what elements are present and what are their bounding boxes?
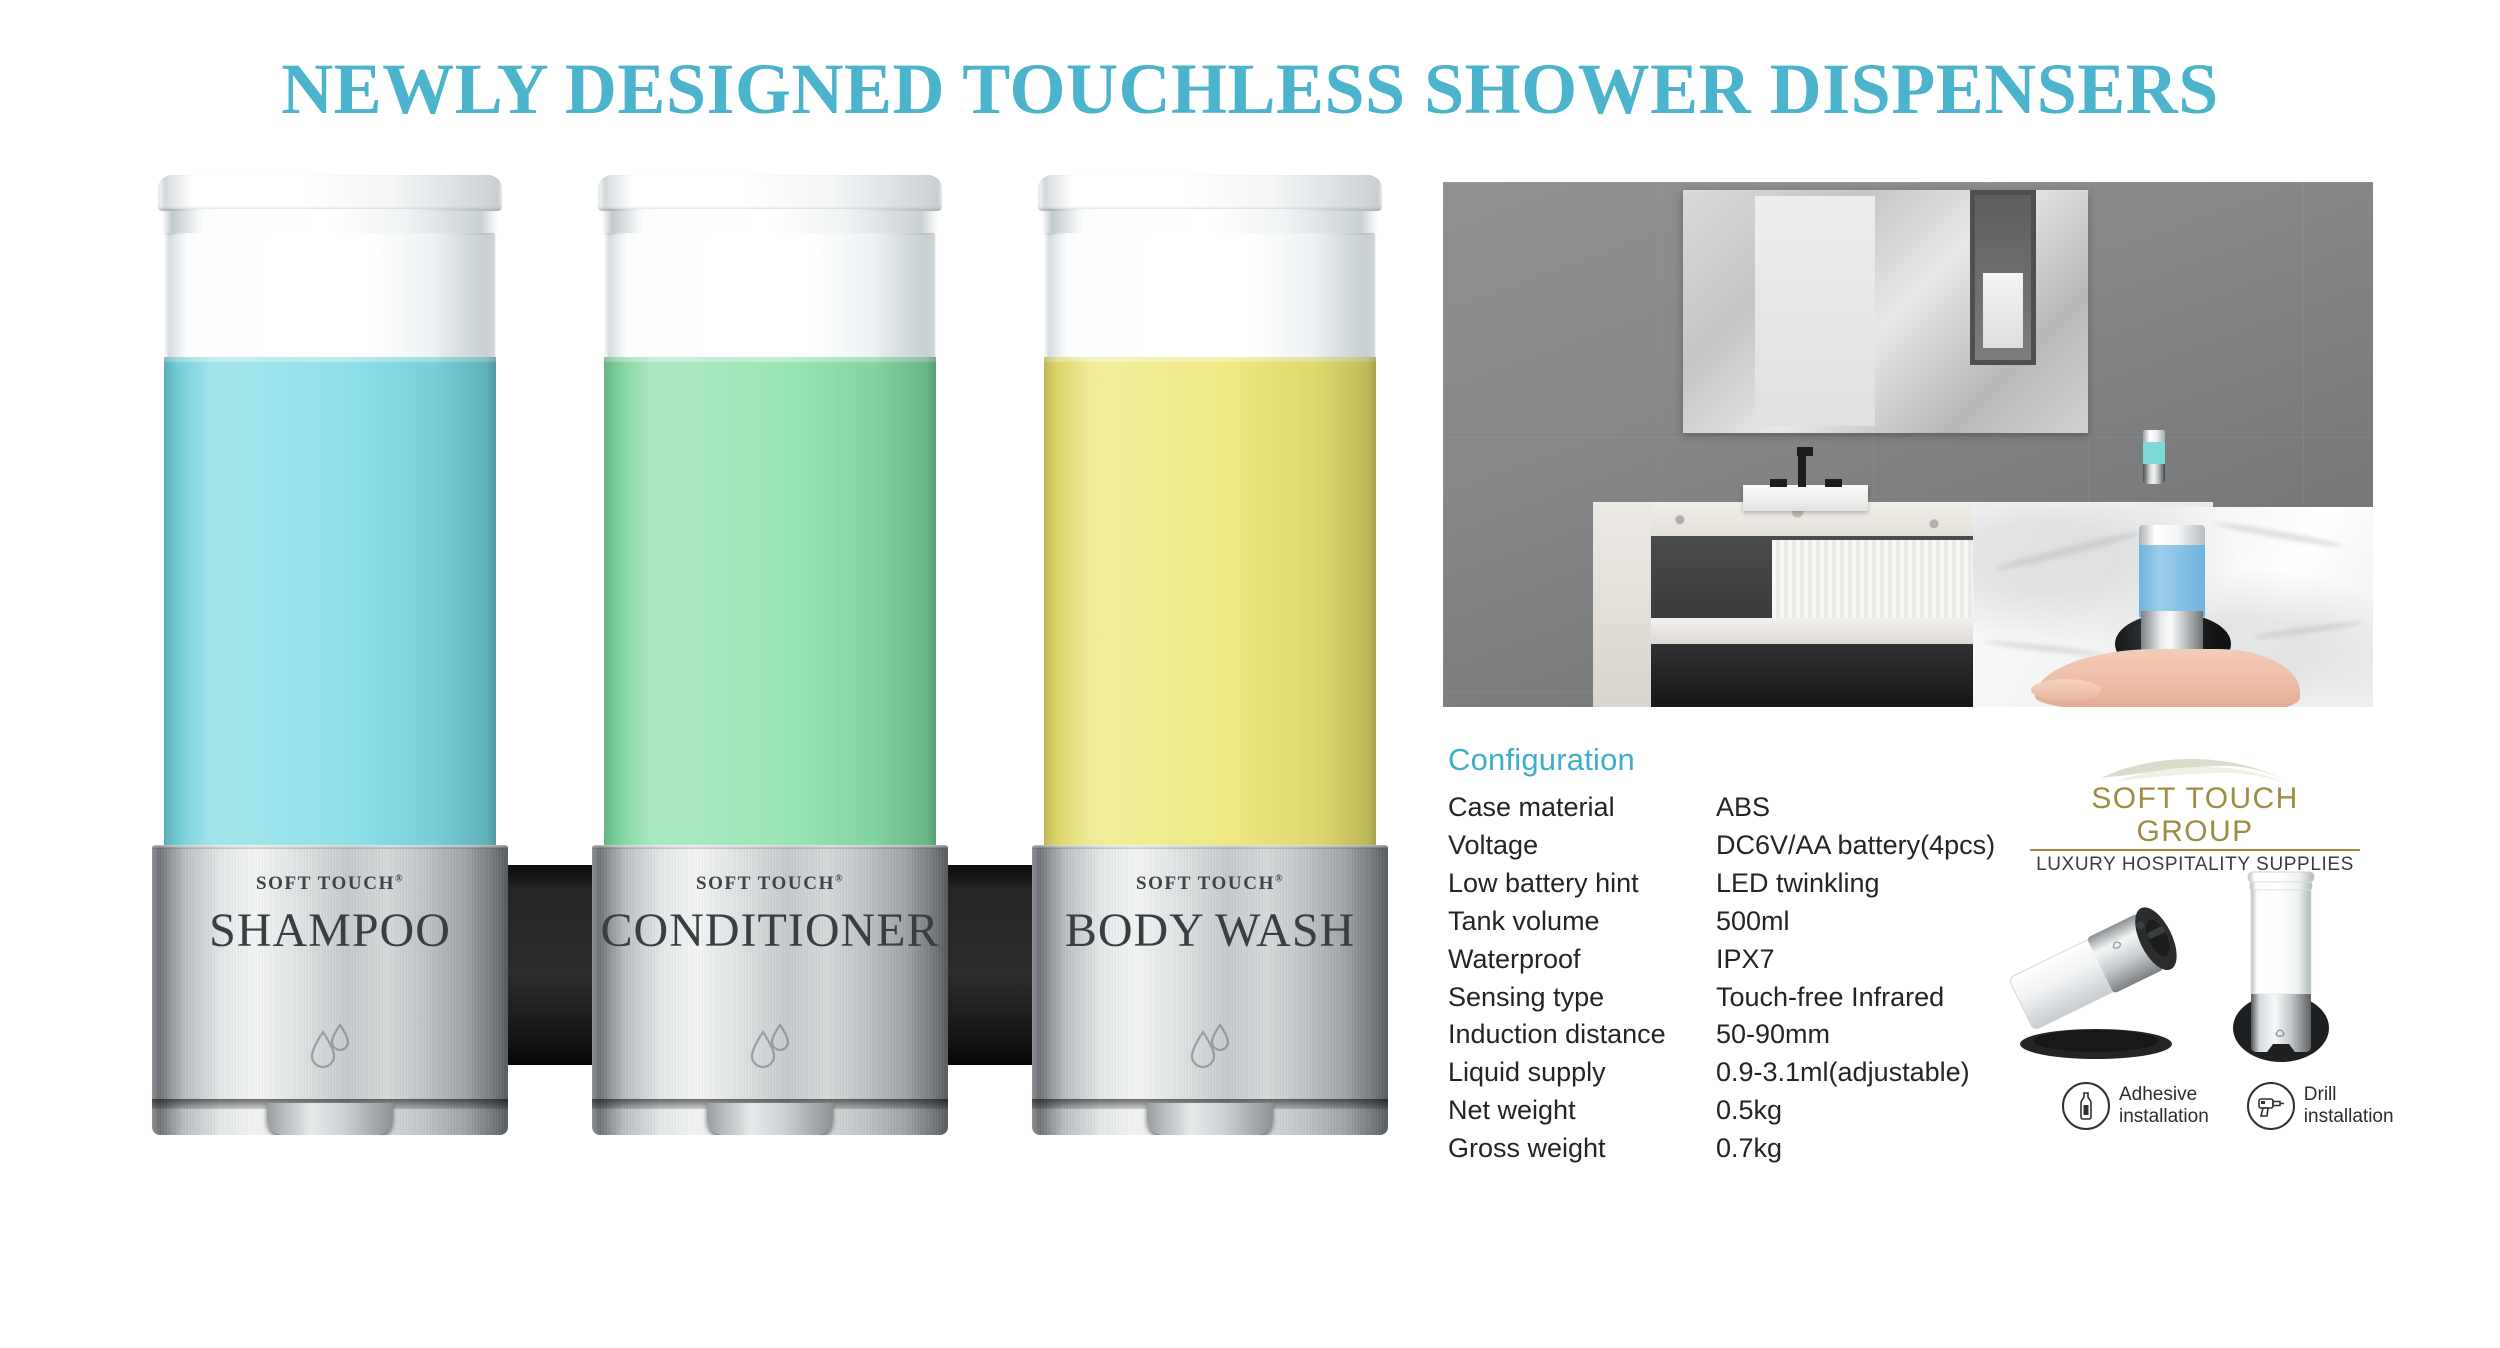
spec-value: IPX7 xyxy=(1716,942,1995,980)
install-method-label: Drill installation xyxy=(2304,1084,2394,1129)
mirror-reflection-door xyxy=(1755,196,1875,426)
bathroom-mirror xyxy=(1683,190,2088,433)
dispenser-tank xyxy=(2143,430,2165,464)
company-logo: SOFT TOUCH GROUP LUXURY HOSPITALITY SUPP… xyxy=(2030,756,2360,876)
spec-key: Low battery hint xyxy=(1448,866,1716,904)
metal-top-edge xyxy=(592,845,948,849)
product-label: SHAMPOO xyxy=(152,903,508,958)
faucet-spout xyxy=(1798,453,1806,487)
vanity-leg-left xyxy=(1593,502,1651,707)
product-lineup: SOFT TOUCH® SHAMPOO SOFT xyxy=(150,175,1450,1205)
table-row: Induction distance50-90mm xyxy=(1448,1017,1995,1055)
spec-key: Case material xyxy=(1448,790,1716,828)
marble-vein xyxy=(1994,529,2141,573)
install-label-line2: installation xyxy=(2119,1106,2209,1128)
spec-key: Gross weight xyxy=(1448,1131,1716,1169)
metal-top-edge xyxy=(1032,845,1388,849)
product-label: BODY WASH xyxy=(1032,903,1388,958)
brand-text: SOFT TOUCH xyxy=(696,873,835,894)
spec-table: Case materialABS VoltageDC6V/AA battery(… xyxy=(1448,790,1995,1169)
dispenser-metal-base xyxy=(2143,464,2165,484)
install-method-label: Adhesive installation xyxy=(2119,1084,2209,1129)
dispenser-body-wash[interactable]: SOFT TOUCH® BODY WASH xyxy=(1030,175,1390,1175)
spec-key: Voltage xyxy=(1448,828,1716,866)
mirror-reflection-sconce xyxy=(1970,190,2036,365)
dispenser-cap-rim xyxy=(602,209,938,235)
liquid-surface xyxy=(1044,357,1376,362)
dispenser-cap xyxy=(598,175,942,211)
liquid-fill xyxy=(164,357,496,853)
nozzle-lip xyxy=(707,1103,833,1135)
dispenser-metal-base: SOFT TOUCH® CONDITIONER xyxy=(592,845,948,1135)
install-label-line1: Adhesive xyxy=(2119,1084,2209,1106)
marble-vein xyxy=(2253,619,2363,640)
faucet-handle-left xyxy=(1770,479,1787,487)
configuration-heading: Configuration xyxy=(1448,742,2088,778)
brand-mark: SOFT TOUCH® xyxy=(1032,873,1388,895)
spec-value: 0.9-3.1ml(adjustable) xyxy=(1716,1055,1995,1093)
install-label-line2: installation xyxy=(2304,1106,2394,1128)
dispenser-tank xyxy=(604,233,936,853)
table-row: WaterproofIPX7 xyxy=(1448,942,1995,980)
table-row: Sensing typeTouch-free Infrared xyxy=(1448,980,1995,1018)
table-row: Case materialABS xyxy=(1448,790,1995,828)
wall-dispenser-vanity xyxy=(2143,430,2165,484)
table-row: Net weight0.5kg xyxy=(1448,1093,1995,1131)
registered-mark: ® xyxy=(1275,874,1284,885)
dispenser-metal-base: SOFT TOUCH® SHAMPOO xyxy=(152,845,508,1135)
dispenser-cap-rim xyxy=(162,209,498,235)
spec-value: 500ml xyxy=(1716,904,1995,942)
glue-bottle-icon xyxy=(2062,1082,2110,1130)
spec-value: Touch-free Infrared xyxy=(1716,980,1995,1018)
product-detail-shots xyxy=(2010,868,2390,1083)
nozzle-notch xyxy=(152,1099,508,1135)
install-label-line1: Drill xyxy=(2304,1084,2394,1106)
liquid-fill xyxy=(2139,545,2205,617)
marble-vein xyxy=(2213,520,2342,549)
brand-mark: SOFT TOUCH® xyxy=(152,873,508,895)
dispenser-conditioner[interactable]: SOFT TOUCH® CONDITIONER xyxy=(590,175,950,1175)
dispenser-metal-base: SOFT TOUCH® BODY WASH xyxy=(1032,845,1388,1135)
brand-mark: SOFT TOUCH® xyxy=(592,873,948,895)
spec-key: Sensing type xyxy=(1448,980,1716,1018)
faucet-handle-right xyxy=(1825,479,1842,487)
spec-value: LED twinkling xyxy=(1716,866,1995,904)
metal-top-edge xyxy=(152,845,508,849)
table-row: Liquid supply0.9-3.1ml(adjustable) xyxy=(1448,1055,1995,1093)
table-row: VoltageDC6V/AA battery(4pcs) xyxy=(1448,828,1995,866)
registered-mark: ® xyxy=(835,874,844,885)
dispenser-cap xyxy=(1038,175,1382,211)
marble-vein xyxy=(1983,639,2103,658)
spec-key: Liquid supply xyxy=(1448,1055,1716,1093)
dispenser-cap-rim xyxy=(1042,209,1378,235)
spec-key: Waterproof xyxy=(1448,942,1716,980)
spec-value: DC6V/AA battery(4pcs) xyxy=(1716,828,1995,866)
logo-primary-text: SOFT TOUCH GROUP xyxy=(2030,782,2360,851)
product-label: CONDITIONER xyxy=(592,903,948,958)
product-shot-angled xyxy=(2010,896,2200,1061)
registered-mark: ® xyxy=(395,874,404,885)
lifestyle-photo xyxy=(1443,182,2373,707)
table-row: Tank volume500ml xyxy=(1448,904,1995,942)
table-row: Gross weight0.7kg xyxy=(1448,1131,1995,1169)
installation-methods: Adhesive installation Drill installation xyxy=(2062,1082,2394,1130)
water-drop-icon xyxy=(307,1020,353,1077)
spec-value: 0.7kg xyxy=(1716,1131,1995,1169)
liquid-fill xyxy=(2143,442,2165,464)
drill-icon xyxy=(2247,1082,2295,1130)
dispenser-shampoo[interactable]: SOFT TOUCH® SHAMPOO xyxy=(150,175,510,1175)
dispenser-tank xyxy=(164,233,496,853)
spec-value: 50-90mm xyxy=(1716,1017,1995,1055)
spec-key: Net weight xyxy=(1448,1093,1716,1131)
inset-demo-photo xyxy=(1973,507,2373,707)
water-drop-icon xyxy=(1187,1020,1233,1077)
demo-dispenser-tank xyxy=(2139,525,2205,617)
spec-key: Induction distance xyxy=(1448,1017,1716,1055)
nozzle-lip xyxy=(1147,1103,1273,1135)
liquid-fill xyxy=(604,357,936,853)
nozzle-lip xyxy=(267,1103,393,1135)
install-method-drill: Drill installation xyxy=(2247,1082,2394,1130)
nozzle-notch xyxy=(592,1099,948,1135)
spec-key: Tank volume xyxy=(1448,904,1716,942)
hand-thumb xyxy=(2031,679,2101,701)
liquid-fill xyxy=(1044,357,1376,853)
liquid-surface xyxy=(164,357,496,362)
water-drop-icon xyxy=(747,1020,793,1077)
brand-text: SOFT TOUCH xyxy=(256,873,395,894)
table-row: Low battery hintLED twinkling xyxy=(1448,866,1995,904)
liquid-surface xyxy=(604,357,936,362)
brand-text: SOFT TOUCH xyxy=(1136,873,1275,894)
configuration-panel: Configuration Case materialABS VoltageDC… xyxy=(1448,742,2088,1169)
spec-value: ABS xyxy=(1716,790,1995,828)
install-method-adhesive: Adhesive installation xyxy=(2062,1082,2209,1130)
nozzle-notch xyxy=(1032,1099,1388,1135)
dispenser-tank xyxy=(1044,233,1376,853)
product-shot-front xyxy=(2206,868,2356,1078)
spec-value: 0.5kg xyxy=(1716,1093,1995,1131)
dispenser-cap xyxy=(158,175,502,211)
page-title: NEWLY DESIGNED TOUCHLESS SHOWER DISPENSE… xyxy=(0,48,2500,131)
vessel-sink xyxy=(1743,485,1868,511)
